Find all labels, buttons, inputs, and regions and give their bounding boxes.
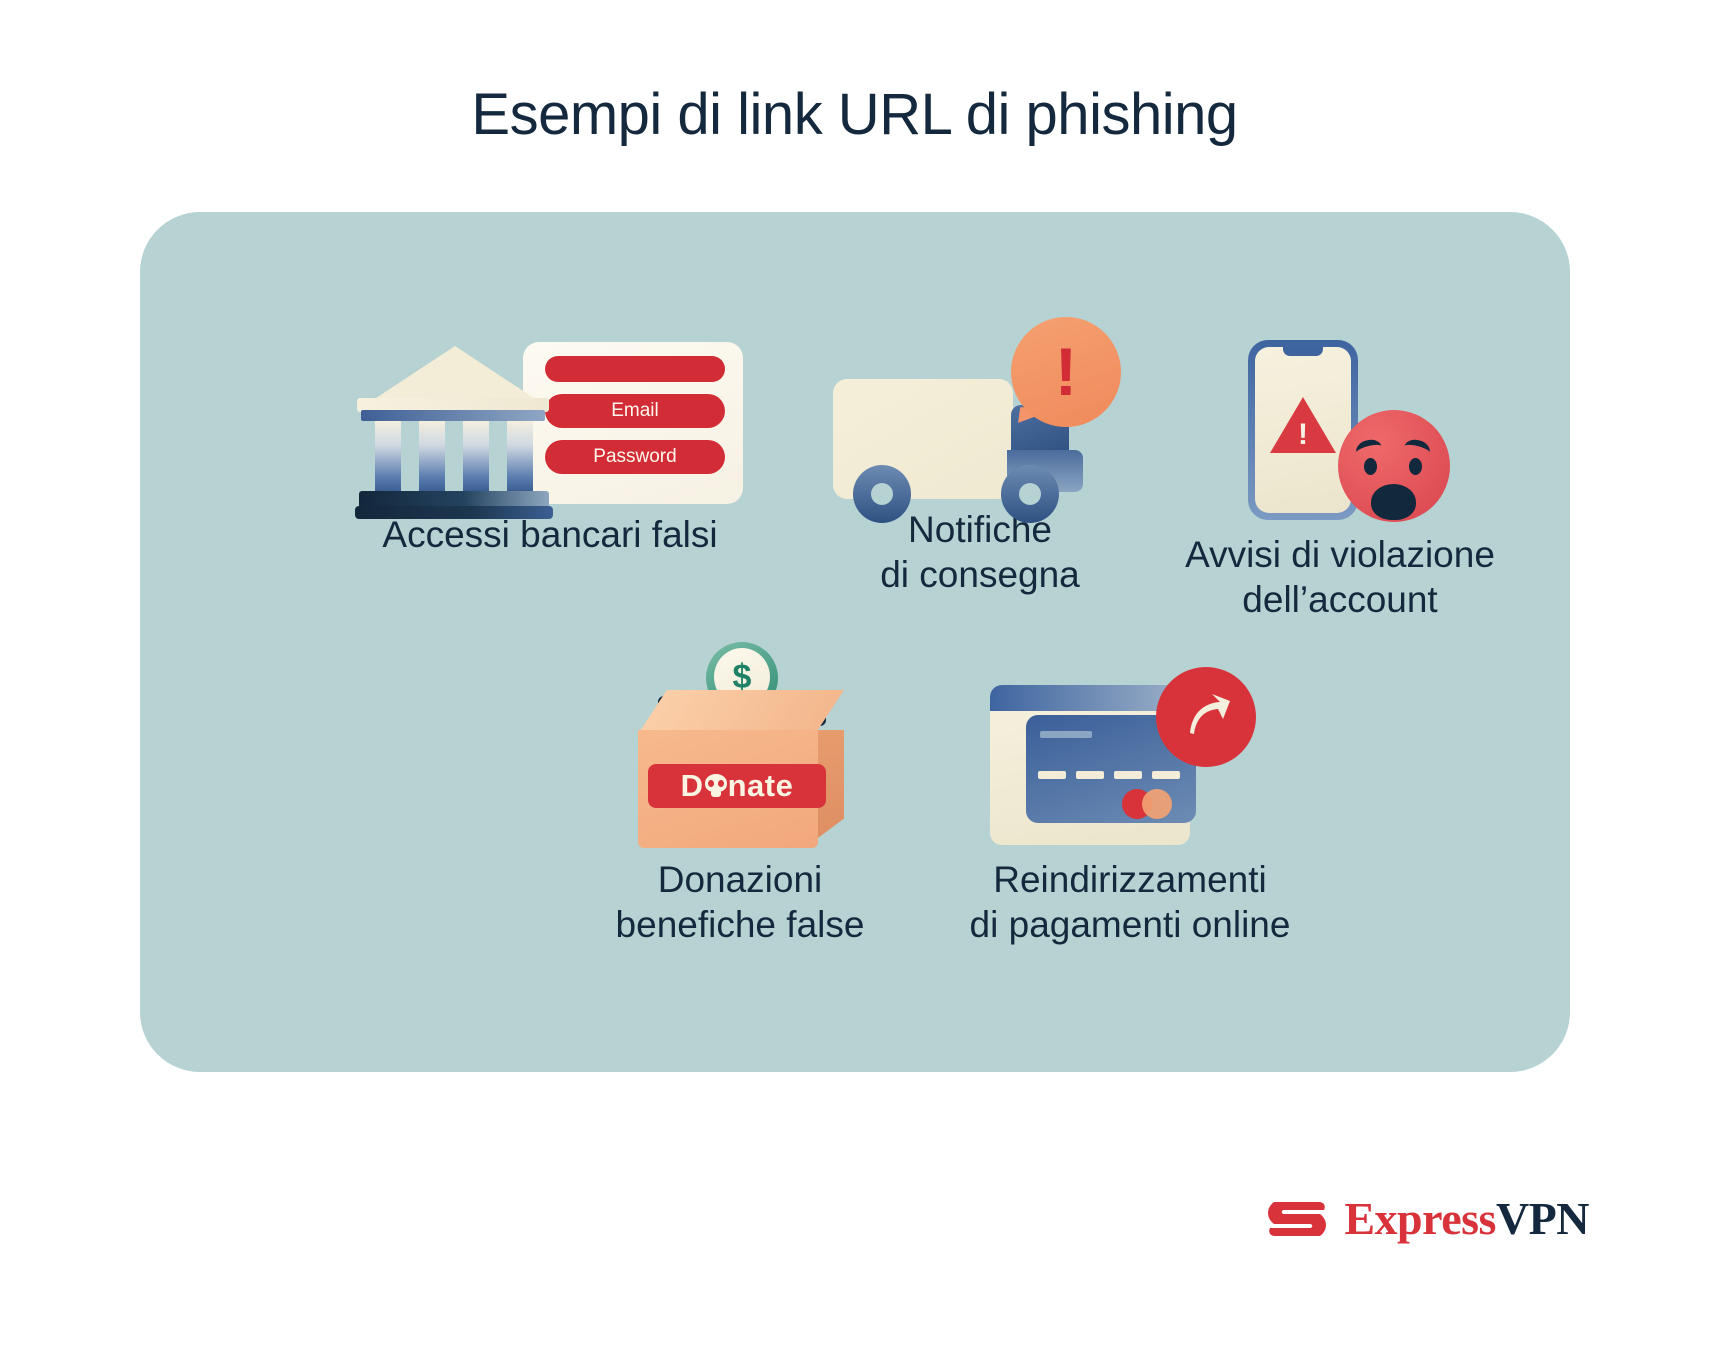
sad-mouth (1371, 484, 1416, 520)
delivery-truck-alert-icon: ! (815, 317, 1145, 507)
skull-icon (705, 774, 727, 798)
brand-express: Express (1344, 1193, 1496, 1244)
card-number-blocks (1038, 771, 1180, 779)
sad-eye-right (1409, 458, 1422, 475)
content-panel: Email Password Accessi bancari falsi (140, 212, 1570, 1072)
bank-column (419, 421, 445, 491)
bank-building-icon (355, 340, 555, 505)
infographic-page: Esempi di link URL di phishing Email Pas… (0, 0, 1709, 1355)
item-fake-bank-login: Email Password Accessi bancari falsi (300, 332, 800, 557)
donation-box-top (638, 690, 844, 734)
bank-base-lower (355, 506, 553, 519)
donate-label-prefix: D (681, 768, 704, 804)
exclamation-icon: ! (1011, 317, 1121, 427)
bank-column (375, 421, 401, 491)
redirect-arrow-icon (1156, 667, 1256, 767)
fake-charity-donation-box-icon: $ D nate (610, 642, 870, 857)
card-strip (1040, 731, 1092, 738)
truck-wheel (853, 465, 911, 523)
phone-notch (1283, 347, 1323, 356)
donate-button[interactable]: D nate (648, 764, 826, 808)
item-caption: Notifiche di consegna (795, 507, 1165, 597)
login-form-card: Email Password (523, 342, 743, 504)
bank-column (507, 421, 533, 491)
bank-roof (367, 346, 543, 404)
fake-bank-login-icon: Email Password (355, 332, 745, 512)
sad-eye-left (1364, 458, 1377, 475)
bank-column (463, 421, 489, 491)
smartphone-icon: ! (1248, 340, 1358, 520)
phone-breach-warning-icon: ! (1210, 332, 1470, 532)
password-field[interactable]: Password (545, 440, 725, 474)
expressvpn-wordmark: ExpressVPN (1344, 1192, 1589, 1245)
bank-field-blank (545, 356, 725, 382)
donate-label-suffix: nate (728, 768, 794, 804)
item-account-breach-alert: ! Avvisi di violazione dell’account (1130, 332, 1550, 622)
email-field[interactable]: Email (545, 394, 725, 428)
page-title: Esempi di link URL di phishing (0, 82, 1709, 149)
expressvpn-swoosh-icon (1264, 1194, 1330, 1244)
item-delivery-notification: ! Notifiche di consegna (795, 317, 1165, 597)
warning-exclamation: ! (1298, 420, 1308, 450)
sad-face-icon (1338, 410, 1450, 522)
item-online-payment-redirect: Reindirizzamenti di pagamenti online (880, 667, 1380, 947)
expressvpn-logo[interactable]: ExpressVPN (1264, 1192, 1589, 1245)
bank-architrave (361, 410, 545, 421)
payment-redirect-icon (980, 667, 1280, 857)
card-network-logo-icon (1122, 789, 1182, 819)
truck-wheel (1001, 465, 1059, 523)
brand-vpn: VPN (1496, 1193, 1589, 1244)
phone-screen: ! (1255, 347, 1351, 513)
item-caption: Reindirizzamenti di pagamenti online (880, 857, 1380, 947)
item-caption: Avvisi di violazione dell’account (1130, 532, 1550, 622)
